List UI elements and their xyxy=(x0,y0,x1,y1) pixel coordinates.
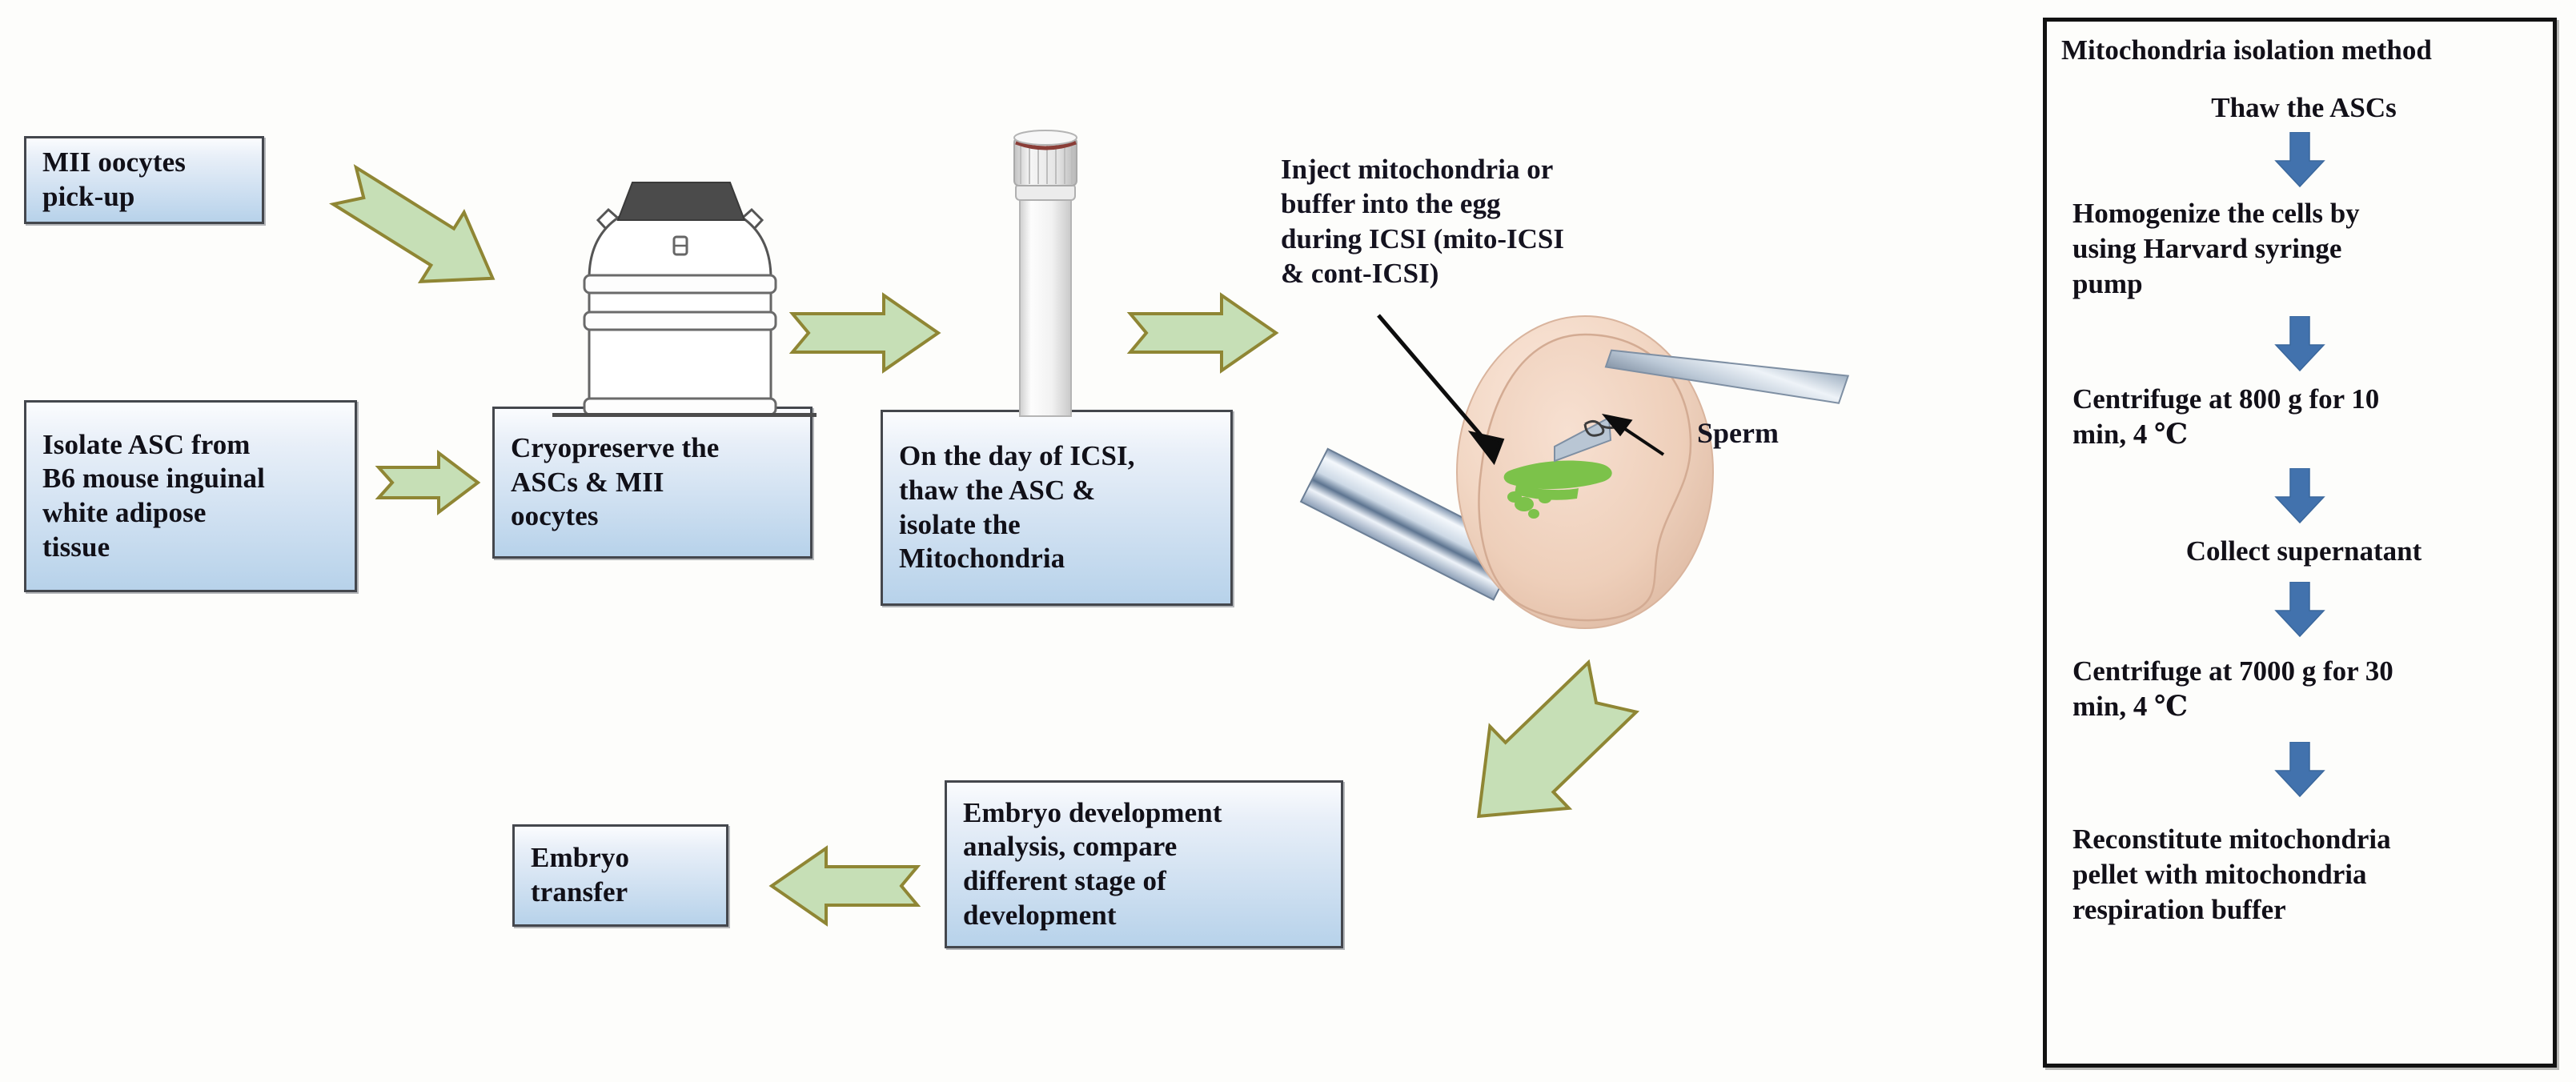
process-box-label: Isolate ASC from B6 mouse inguinal white… xyxy=(42,428,265,565)
process-box-label: On the day of ICSI, thaw the ASC & isola… xyxy=(899,439,1135,576)
process-box-isolate-asc[interactable]: Isolate ASC from B6 mouse inguinal white… xyxy=(24,400,357,592)
arrow-analysis-to-transfer xyxy=(768,842,921,930)
process-box-thaw-isolate[interactable]: On the day of ICSI, thaw the ASC & isola… xyxy=(881,410,1233,606)
process-box-embryo-transfer[interactable]: Embryo transfer xyxy=(512,824,728,927)
method-step-1: Thaw the ASCs xyxy=(2058,90,2550,126)
process-box-cryopreserve[interactable]: Cryopreserve the ASCs & MII oocytes xyxy=(492,407,813,559)
process-box-mii-oocytes[interactable]: MII oocytes pick-up xyxy=(24,136,264,224)
method-panel-title: Mitochondria isolation method xyxy=(2061,34,2432,66)
inject-annotation-text: Inject mitochondria or buffer into the e… xyxy=(1281,152,1665,291)
arrow-oocytes-to-cryotank xyxy=(327,172,511,292)
down-arrow-icon-3 xyxy=(2274,468,2325,524)
down-arrow-icon-5 xyxy=(2274,742,2325,798)
process-box-label: Embryo development analysis, compare dif… xyxy=(963,796,1222,933)
method-step-4: Collect supernatant xyxy=(2058,534,2550,569)
process-box-embryo-development[interactable]: Embryo development analysis, compare dif… xyxy=(945,780,1343,948)
method-step-2: Homogenize the cells by using Harvard sy… xyxy=(2058,196,2550,301)
workflow-diagram: MII oocytes pick-up Isolate ASC from B6 … xyxy=(0,0,2576,1082)
process-box-label: Embryo transfer xyxy=(531,841,629,909)
process-box-label: Cryopreserve the ASCs & MII oocytes xyxy=(511,431,719,534)
arrow-vial-to-icsi xyxy=(1127,288,1279,378)
method-step-5: Centrifuge at 7000 g for 30 min, 4 ℃ xyxy=(2058,654,2550,724)
process-box-label: MII oocytes pick-up xyxy=(42,146,186,214)
icsi-egg-injection-icon xyxy=(1345,304,1841,640)
method-step-3: Centrifuge at 800 g for 10 min, 4 ℃ xyxy=(2058,382,2550,452)
sperm-label: Sperm xyxy=(1697,416,1779,450)
arrow-icsi-to-embryo-analysis xyxy=(1445,660,1645,844)
cryovial-tube-icon xyxy=(1001,110,1105,416)
down-arrow-icon-2 xyxy=(2274,316,2325,372)
method-step-6: Reconstitute mitochondria pellet with mi… xyxy=(2058,822,2550,927)
mitochondria-isolation-panel: Mitochondria isolation method Thaw the A… xyxy=(2043,18,2557,1068)
down-arrow-icon-4 xyxy=(2274,582,2325,638)
cryogenic-dewar-tank-icon xyxy=(552,80,817,416)
arrow-asc-to-cryopreserve xyxy=(376,448,480,517)
down-arrow-icon-1 xyxy=(2274,132,2325,188)
